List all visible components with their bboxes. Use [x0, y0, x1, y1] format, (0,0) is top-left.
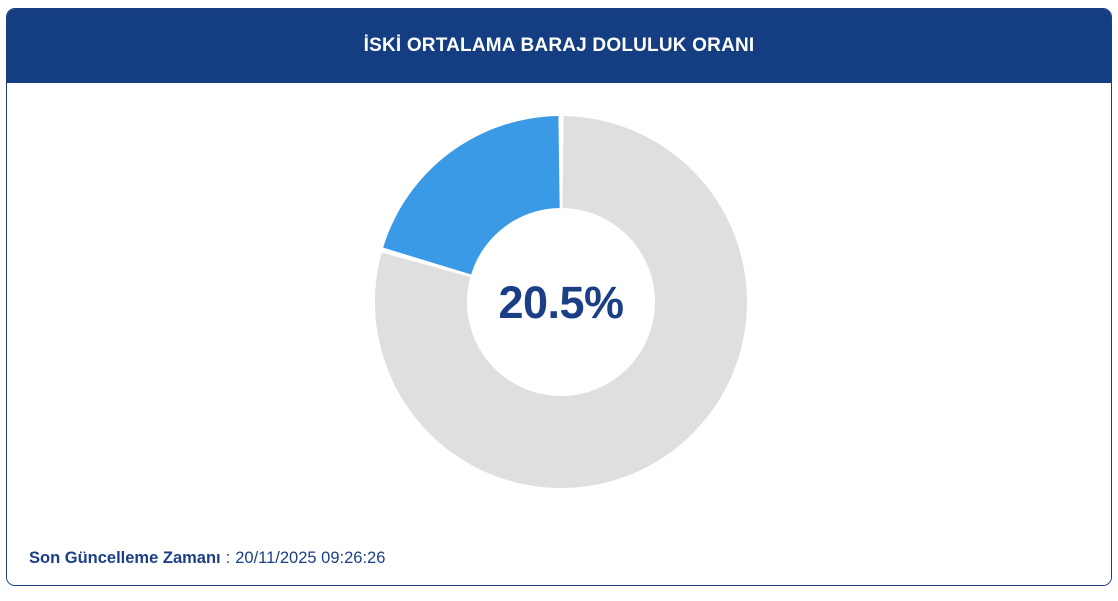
page-title: İSKİ ORTALAMA BARAJ DOLULUK ORANI: [364, 35, 755, 57]
donut-chart: 20.5%: [371, 112, 751, 492]
dam-occupancy-card: İSKİ ORTALAMA BARAJ DOLULUK ORANI 20.5% …: [6, 8, 1112, 586]
donut-slice-Dolu[interactable]: [383, 116, 560, 274]
card-body: 20.5% Son Güncelleme Zamanı : 20/11/2025…: [7, 83, 1111, 586]
screenshot-root: İSKİ ORTALAMA BARAJ DOLULUK ORANI 20.5% …: [0, 0, 1118, 601]
last-update-footer: Son Güncelleme Zamanı : 20/11/2025 09:26…: [29, 545, 385, 571]
last-update-label: Son Güncelleme Zamanı: [29, 549, 221, 568]
card-header: İSKİ ORTALAMA BARAJ DOLULUK ORANI: [7, 9, 1111, 83]
donut-slices: [375, 116, 747, 488]
donut-chart-svg: [371, 112, 751, 492]
last-update-separator: :: [221, 549, 233, 568]
last-update-value: 20/11/2025 09:26:26: [232, 549, 385, 568]
